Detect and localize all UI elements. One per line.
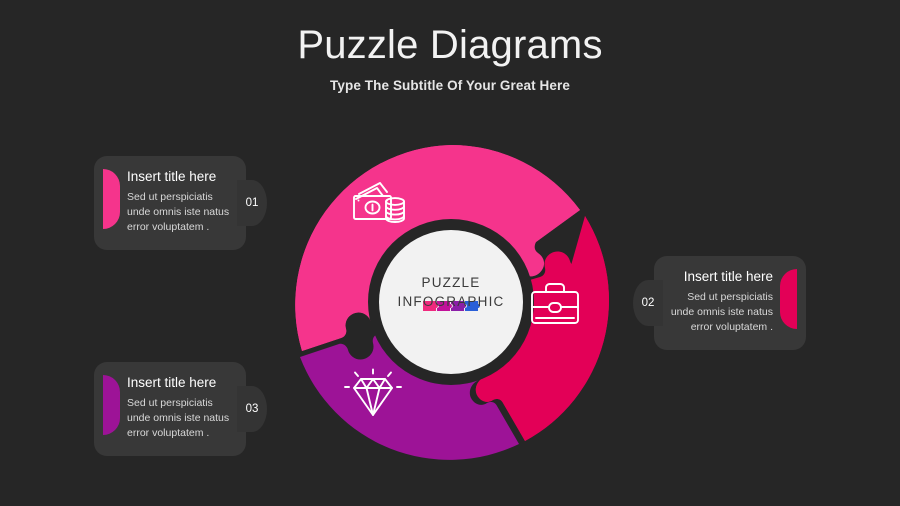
info-card-03[interactable]: Insert title here Sed ut perspiciatis un… <box>94 362 246 456</box>
mini-piece-3 <box>451 301 466 311</box>
card-number-knob-03[interactable]: 03 <box>237 386 267 432</box>
card-number-01: 01 <box>246 197 259 209</box>
mini-piece-4 <box>465 301 480 311</box>
card-number-02: 02 <box>642 297 655 309</box>
puzzle-wheel: PUZZLE INFOGRAPHIC <box>284 138 618 462</box>
card-title-01: Insert title here <box>127 169 231 186</box>
mini-puzzle-strip <box>423 301 480 311</box>
card-title-03: Insert title here <box>127 375 231 392</box>
card-body-01: Sed ut perspiciatis unde omnis iste natu… <box>127 190 231 236</box>
card-accent-03 <box>103 375 120 435</box>
card-title-02: Insert title here <box>669 269 773 286</box>
card-number-03: 03 <box>246 403 259 415</box>
info-card-02[interactable]: Insert title here Sed ut perspiciatis un… <box>654 256 806 350</box>
card-accent-01 <box>103 169 120 229</box>
slide-header: Puzzle Diagrams Type The Subtitle Of You… <box>0 0 900 93</box>
card-body-03: Sed ut perspiciatis unde omnis iste natu… <box>127 396 231 442</box>
slide-canvas: Puzzle Diagrams Type The Subtitle Of You… <box>0 0 900 506</box>
card-number-knob-02[interactable]: 02 <box>633 280 663 326</box>
info-card-01[interactable]: Insert title here Sed ut perspiciatis un… <box>94 156 246 250</box>
card-number-knob-01[interactable]: 01 <box>237 180 267 226</box>
card-accent-02 <box>780 269 797 329</box>
mini-piece-1 <box>423 301 438 311</box>
page-subtitle: Type The Subtitle Of Your Great Here <box>0 78 900 93</box>
mini-piece-2 <box>437 301 452 311</box>
page-title: Puzzle Diagrams <box>0 22 900 68</box>
card-body-02: Sed ut perspiciatis unde omnis iste natu… <box>669 290 773 336</box>
